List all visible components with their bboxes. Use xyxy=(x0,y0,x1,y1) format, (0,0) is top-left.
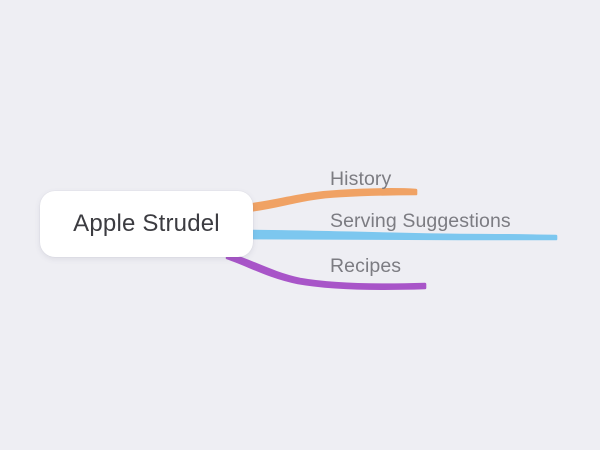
root-node[interactable]: Apple Strudel xyxy=(40,191,253,257)
branch-label-history[interactable]: History xyxy=(330,170,391,190)
branch-label-serving[interactable]: Serving Suggestions xyxy=(330,212,511,232)
mindmap-canvas: History Serving Suggestions Recipes Appl… xyxy=(0,0,600,450)
root-node-title: Apple Strudel xyxy=(73,212,220,236)
branch-label-recipes[interactable]: Recipes xyxy=(330,257,401,277)
branch-line-history[interactable] xyxy=(246,189,416,211)
branch-line-serving[interactable] xyxy=(246,231,556,239)
